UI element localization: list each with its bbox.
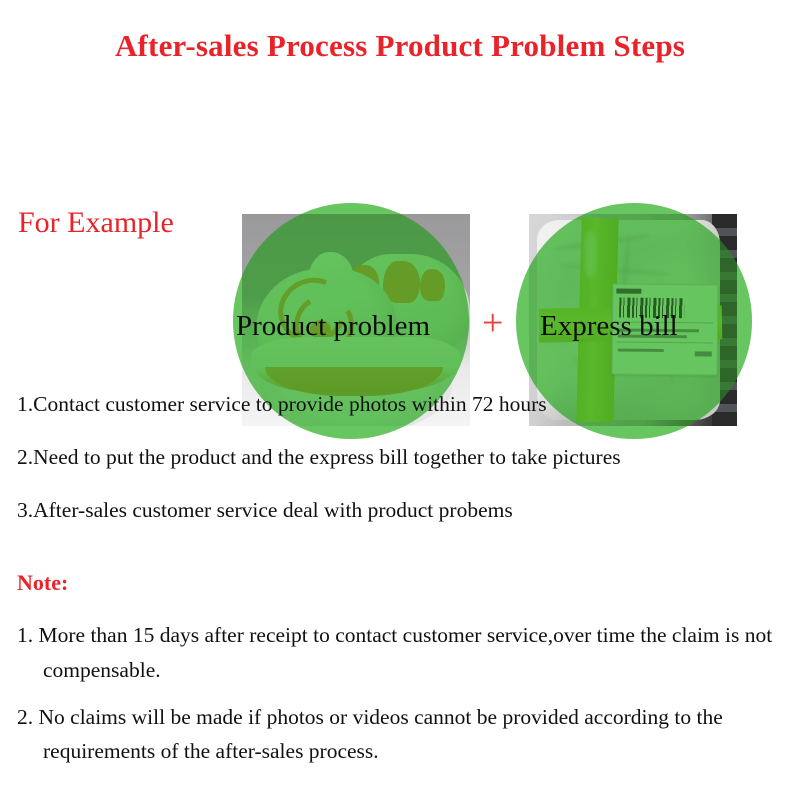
example-section: For Example [0, 100, 800, 348]
for-example-label: For Example [18, 206, 174, 240]
plus-icon: + [482, 304, 503, 342]
page-title: After-sales Process Product Problem Step… [0, 28, 800, 64]
note-item-1: 1. More than 15 days after receipt to co… [17, 618, 795, 688]
sneaker-accent [420, 269, 445, 301]
label-text-line [618, 349, 664, 352]
tape-highlight [585, 231, 595, 278]
step-item-3: 3.After-sales customer service deal with… [17, 498, 787, 523]
step-item-1: 1.Contact customer service to provide ph… [17, 392, 787, 417]
note-list: 1. More than 15 days after receipt to co… [17, 618, 795, 781]
express-bill-caption: Express bill [540, 310, 678, 343]
steps-list: 1.Contact customer service to provide ph… [17, 392, 787, 551]
step-item-2: 2.Need to put the product and the expres… [17, 445, 787, 470]
label-header-block [617, 288, 642, 294]
note-item-2: 2. No claims will be made if photos or v… [17, 700, 795, 770]
note-heading: Note: [17, 570, 68, 596]
label-code-block [695, 351, 712, 356]
product-problem-caption: Product problem [236, 310, 430, 343]
